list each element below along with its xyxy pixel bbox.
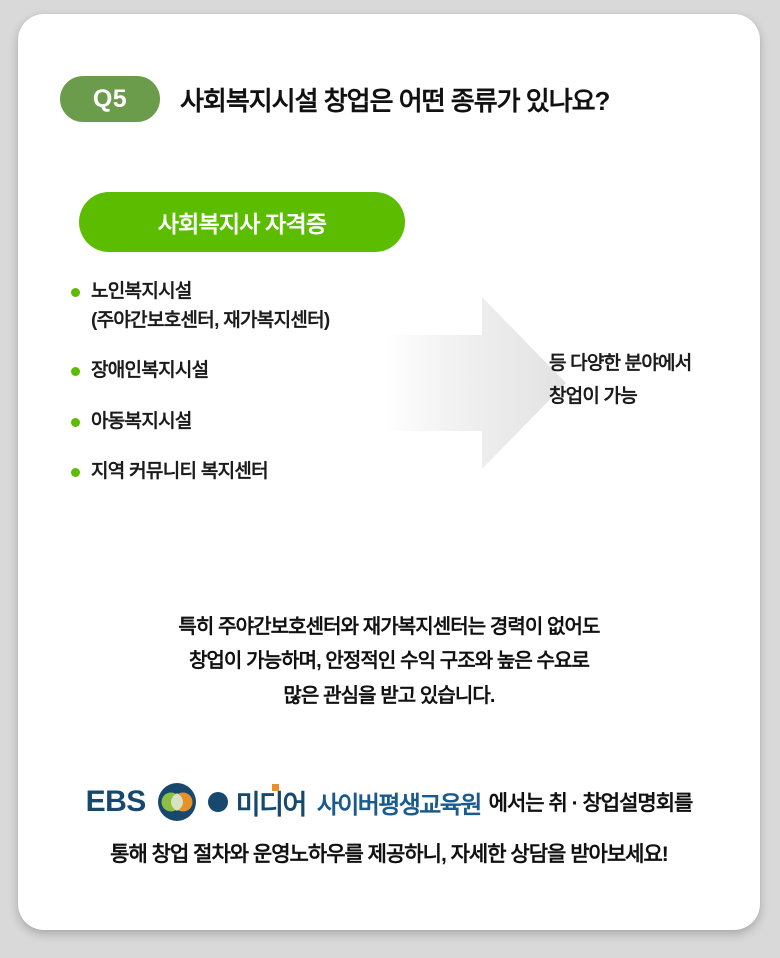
footer-line-1: EBS 미디어 사이버평생교육원 [18,782,760,822]
footer-tail-text: 에서는 취 · 창업설명회를 [489,787,693,817]
media-wordmark: 미디어 [236,783,306,822]
list-item-label: 지역 커뮤니티 복지센터 [91,458,268,487]
arrow-caption: 등 다양한 분야에서 창업이 가능 [549,347,691,414]
bullet-dot-icon [71,367,80,376]
description-paragraph: 특히 주야간보호센터와 재가복지센터는 경력이 없어도 창업이 가능하며, 안정… [18,610,760,713]
bullet-dot-icon [71,468,80,477]
arrow-caption-line-1: 등 다양한 분야에서 [549,347,691,380]
ebs-circle-mark [154,782,200,822]
right-arrow-icon [386,297,566,469]
paragraph-line-3: 많은 관심을 받고 있습니다. [18,679,760,713]
bullet-dot-icon [71,418,80,427]
paragraph-line-2: 창업이 가능하며, 안정적인 수익 구조와 높은 수요로 [18,644,760,678]
page-background: Q5 사회복지시설 창업은 어떤 종류가 있나요? 사회복지사 자격증 노인복지… [0,0,780,958]
question-number-badge: Q5 [60,76,160,122]
cyber-academy-wordmark: 사이버평생교육원 [317,785,481,820]
list-item-label: 아동복지시설 [91,408,192,437]
list-item-label: 노인복지시설 (주야간보호센터, 재가복지센터) [91,278,330,335]
info-card: Q5 사회복지시설 창업은 어떤 종류가 있나요? 사회복지사 자격증 노인복지… [18,14,760,930]
qualification-pill: 사회복지사 자격증 [79,192,405,252]
list-item-subtitle: (주야간보호센터, 재가복지센터) [91,307,330,336]
footer-section: EBS 미디어 사이버평생교육원 [18,782,760,868]
ebs-dot-icon [207,782,229,822]
question-header: Q5 사회복지시설 창업은 어떤 종류가 있나요? [60,76,609,122]
list-item-label: 장애인복지시설 [91,357,208,386]
arrow-caption-line-2: 창업이 가능 [549,380,691,413]
media-wordmark-text: 미디어 [236,790,306,820]
ebs-media-logo: EBS 미디어 사이버평생교육원 [86,782,481,822]
media-accent-mark [272,784,279,791]
bullet-dot-icon [71,288,80,297]
paragraph-line-1: 특히 주야간보호센터와 재가복지센터는 경력이 없어도 [18,610,760,644]
ebs-wordmark: EBS [86,785,146,819]
list-item-title: 노인복지시설 [91,281,192,302]
footer-line-2: 통해 창업 절차와 운영노하우를 제공하니, 자세한 상담을 받아보세요! [18,838,760,868]
question-title: 사회복지시설 창업은 어떤 종류가 있나요? [180,81,609,118]
